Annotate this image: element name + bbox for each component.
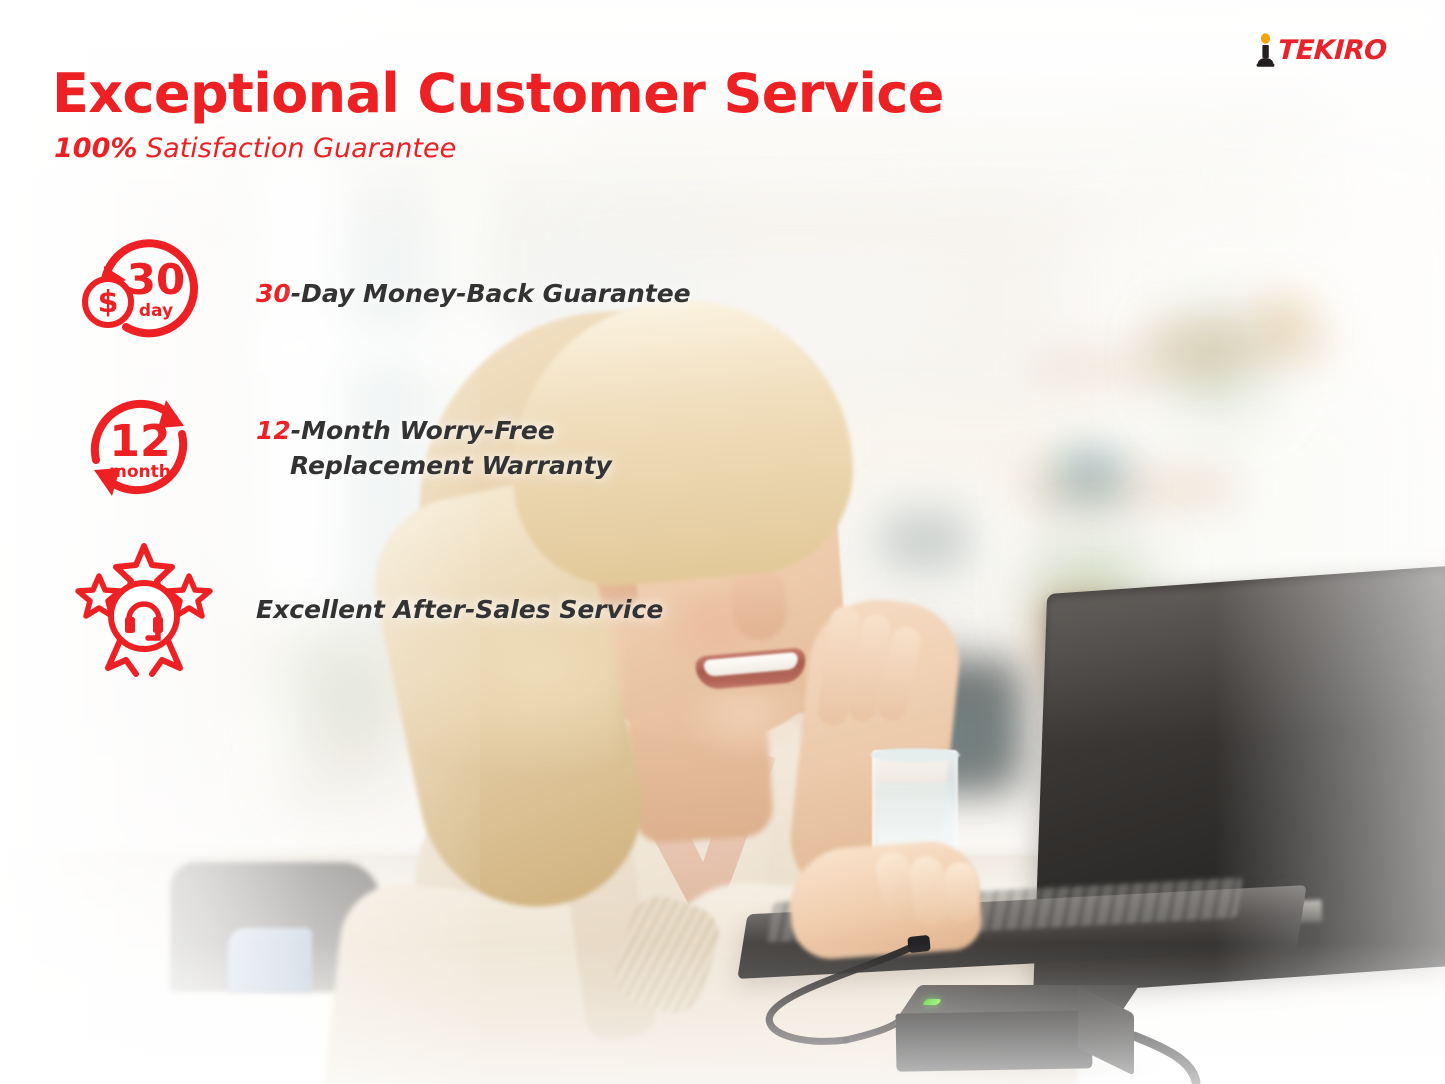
feature-text: -Month Worry-Free: [291, 416, 555, 445]
feature-item-money-back: $ 30 day 30-Day Money-Back Guarantee: [74, 228, 691, 360]
feature-text: -Day Money-Back Guarantee: [291, 279, 691, 308]
flame-i-icon: [1254, 33, 1276, 67]
tekiro-logo: TEKIRO: [1254, 33, 1387, 67]
feature-label-after-sales: Excellent After-Sales Service: [256, 592, 663, 628]
feature-item-warranty: 12 month 12-Month Worry-Free Replacement…: [74, 382, 612, 514]
banner-content: TEKIRO Exceptional Customer Service 100%…: [0, 0, 1445, 1084]
feature-item-after-sales: Excellent After-Sales Service: [74, 540, 663, 680]
twelve-month-warranty-icon: 12 month: [74, 382, 214, 514]
logo-wordmark: TEKIRO: [1278, 37, 1388, 64]
icon-number: 30: [127, 255, 185, 304]
thirty-day-money-back-icon: $ 30 day: [74, 228, 214, 360]
promo-banner: TEKIRO Exceptional Customer Service 100%…: [0, 0, 1445, 1084]
dollar-sign-icon: $: [98, 285, 119, 320]
feature-number: 30: [256, 279, 291, 308]
subtitle-rest: Satisfaction Guarantee: [137, 133, 456, 164]
feature-text-line2: Replacement Warranty: [256, 448, 612, 484]
icon-unit: day: [139, 301, 173, 321]
icon-number: 12: [109, 416, 170, 467]
icon-unit: month: [109, 462, 171, 482]
feature-number: 12: [256, 416, 291, 445]
feature-label-money-back: 30-Day Money-Back Guarantee: [256, 276, 691, 312]
after-sales-service-medal-icon: [74, 540, 214, 680]
page-subtitle: 100% Satisfaction Guarantee: [54, 134, 456, 164]
feature-text: Excellent After-Sales Service: [256, 595, 663, 624]
subtitle-percent: 100%: [54, 133, 137, 164]
page-title: Exceptional Customer Service: [52, 66, 944, 123]
feature-label-warranty: 12-Month Worry-Free Replacement Warranty: [256, 413, 612, 484]
